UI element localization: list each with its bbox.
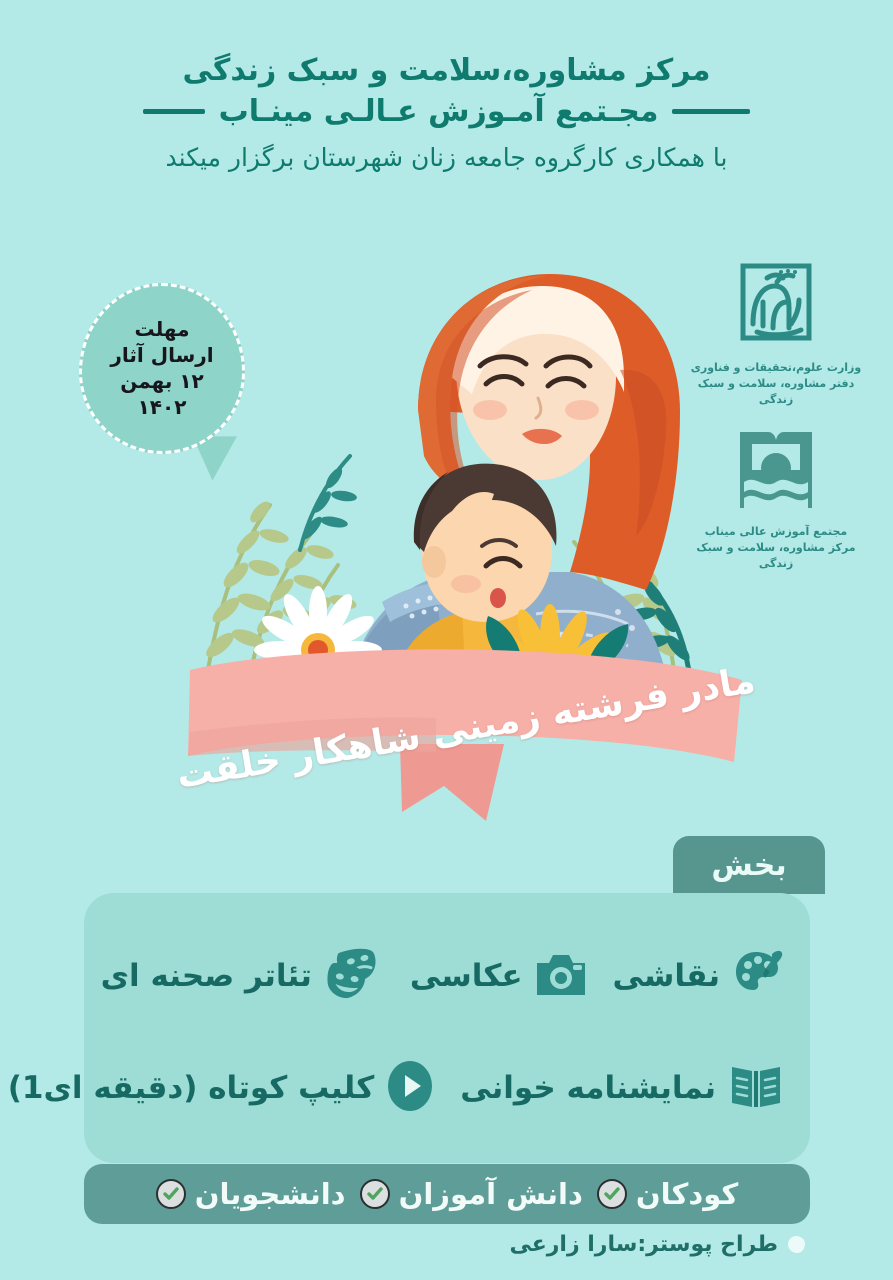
check-circle-icon (360, 1179, 390, 1209)
audience-students[interactable]: دانشجویان (156, 1177, 346, 1211)
header-line-1: مرکز مشاوره،سلامت و سبک زندگی (0, 52, 893, 90)
audience-pupils[interactable]: دانش آموزان (360, 1177, 583, 1211)
deadline-line-1: مهلت (135, 318, 190, 341)
category-painting[interactable]: نقاشی (613, 948, 784, 1004)
credit-text: طراح پوستر:سارا زارعی (509, 1232, 778, 1257)
play-circle-icon (386, 1060, 434, 1116)
header-line-2: مجـتمع آمـوزش عـالـی مینـاب (219, 94, 659, 129)
teal-fern-left (299, 456, 357, 550)
audience-children-label: کودکان (636, 1177, 738, 1211)
logo-university-block: مجتمع آموزش عالی میناب مرکز مشاوره، سلام… (683, 424, 869, 572)
ribbon-banner: مادر فرشته زمینی شاهکار خلقت (186, 636, 746, 821)
poster-canvas: مرکز مشاوره،سلامت و سبک زندگی مجـتمع آمـ… (0, 0, 893, 1280)
category-play-reading-label: نمایشنامه خوانی (460, 1070, 716, 1106)
logo-university-caption: مجتمع آموزش عالی میناب مرکز مشاوره، سلام… (683, 524, 869, 572)
audience-bar: کودکان دانش آموزان دانشجویان (84, 1164, 810, 1224)
open-book-icon (728, 1061, 784, 1115)
deadline-badge: مهلت ارسال آثار ۱۲ بهمن ۱۴۰۲ (79, 283, 245, 454)
camera-icon (535, 951, 587, 1001)
audience-children[interactable]: کودکان (597, 1177, 738, 1211)
header-line-2-row: مجـتمع آمـوزش عـالـی مینـاب (0, 94, 893, 129)
deadline-line-2: ارسال آثار (110, 344, 213, 367)
paint-palette-icon (732, 948, 784, 1004)
logo-ministry-caption-line-2: دفتر مشاوره، سلامت و سبک زندگی (683, 376, 869, 408)
category-painting-label: نقاشی (613, 958, 720, 994)
logo-ministry-caption: وزارت علوم،تحقیقات و فناوری دفتر مشاوره،… (683, 360, 869, 408)
credit-line: طراح پوستر:سارا زارعی (509, 1232, 805, 1257)
header-rule-right (143, 109, 205, 114)
category-short-clip-label: کلیپ کوتاه (دقیقه ای1) (8, 1070, 375, 1106)
category-play-reading[interactable]: نمایشنامه خوانی (460, 1061, 784, 1115)
student-organization-calligraphy-logo (733, 262, 819, 354)
header-rule-left (672, 109, 750, 114)
category-short-clip[interactable]: کلیپ کوتاه (دقیقه ای1) (8, 1060, 435, 1116)
section-tab-label: بخش (711, 848, 786, 883)
category-photography-label: عکاسی (410, 958, 523, 994)
category-stage-theater-label: تئاتر صحنه ای (101, 958, 312, 994)
book-sun-waves-logo (730, 424, 822, 518)
theater-masks-icon (324, 948, 384, 1004)
deadline-text: مهلت ارسال آثار ۱۲ بهمن ۱۴۰۲ (79, 283, 245, 454)
logo-university-caption-line-2: مرکز مشاوره، سلامت و سبک زندگی (683, 540, 869, 572)
audience-students-label: دانشجویان (195, 1177, 346, 1211)
category-row-2: نمایشنامه خوانی کلیپ کوتاه (دقیقه ای1) (110, 1053, 784, 1123)
category-photography[interactable]: عکاسی (410, 951, 587, 1001)
category-row-1: نقاشی عکاسی (110, 941, 784, 1011)
logo-ministry-caption-line-1: وزارت علوم،تحقیقات و فناوری (683, 360, 869, 376)
check-circle-icon (156, 1179, 186, 1209)
poster-header: مرکز مشاوره،سلامت و سبک زندگی مجـتمع آمـ… (0, 52, 893, 172)
ribbon-tail (400, 744, 504, 821)
header-line-3: با همکاری کارگروه جامعه زنان شهرستان برگ… (0, 143, 893, 172)
flower-dot-icon (788, 1236, 805, 1253)
audience-pupils-label: دانش آموزان (399, 1177, 583, 1211)
section-panel: نقاشی عکاسی (84, 893, 810, 1163)
section-tab[interactable]: بخش (673, 836, 825, 894)
category-stage-theater[interactable]: تئاتر صحنه ای (101, 948, 384, 1004)
deadline-line-3: ۱۲ بهمن (120, 370, 204, 393)
deadline-line-4: ۱۴۰۲ (138, 396, 187, 419)
logo-ministry-block: وزارت علوم،تحقیقات و فناوری دفتر مشاوره،… (683, 262, 869, 408)
logo-university-caption-line-1: مجتمع آموزش عالی میناب (683, 524, 869, 540)
check-circle-icon (597, 1179, 627, 1209)
